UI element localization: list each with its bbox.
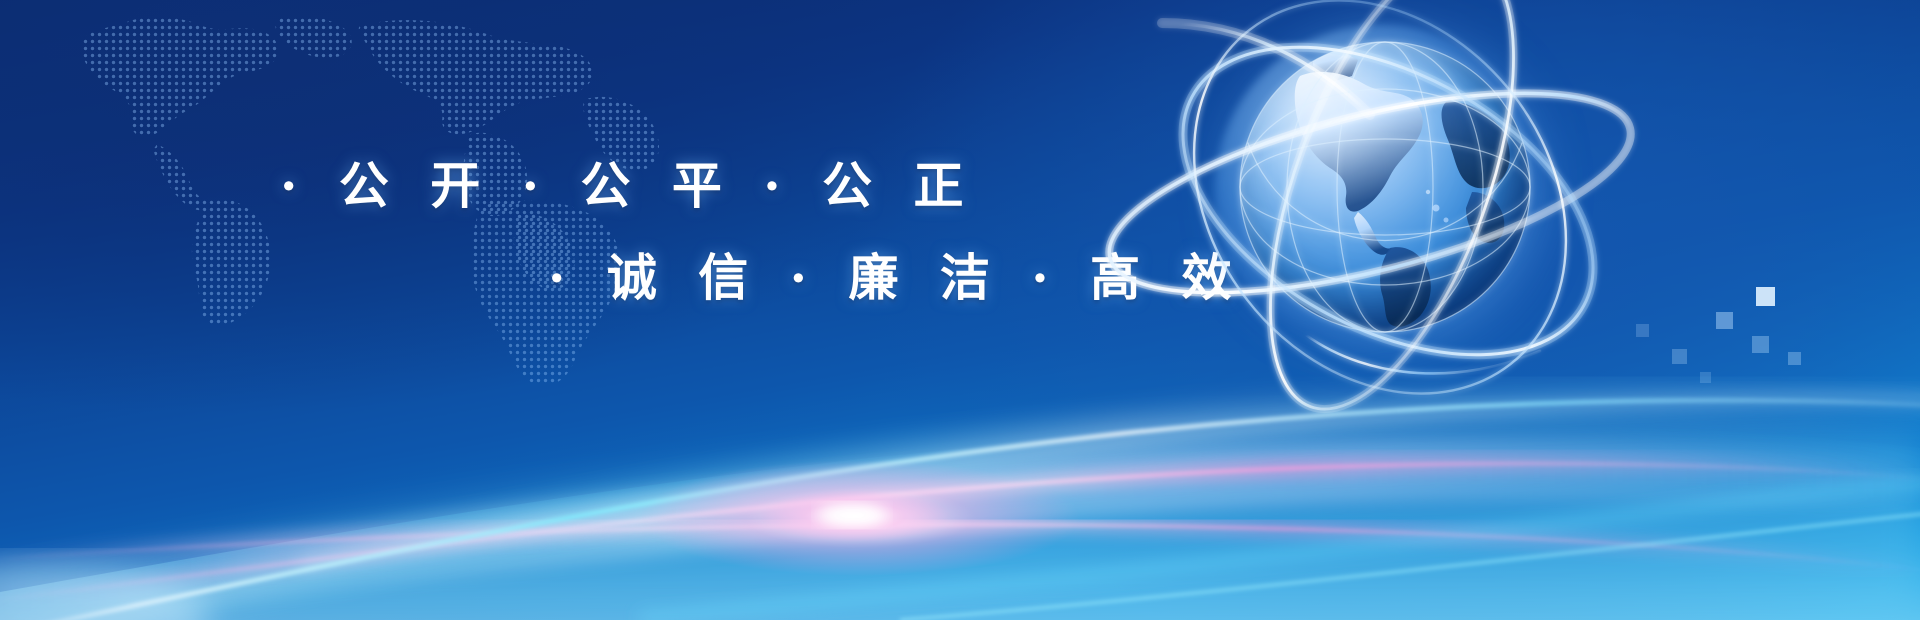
- headline-block: · 公 开 · 公 平 · 公 正 · 诚 信 · 廉 洁 · 高 效: [0, 0, 1150, 360]
- headline-line-1: · 公 开 · 公 平 · 公 正: [280, 146, 975, 218]
- light-streak-wave: [0, 320, 1920, 620]
- promo-banner: · 公 开 · 公 平 · 公 正 · 诚 信 · 廉 洁 · 高 效: [0, 0, 1920, 620]
- pixel-square-1: [1756, 287, 1775, 306]
